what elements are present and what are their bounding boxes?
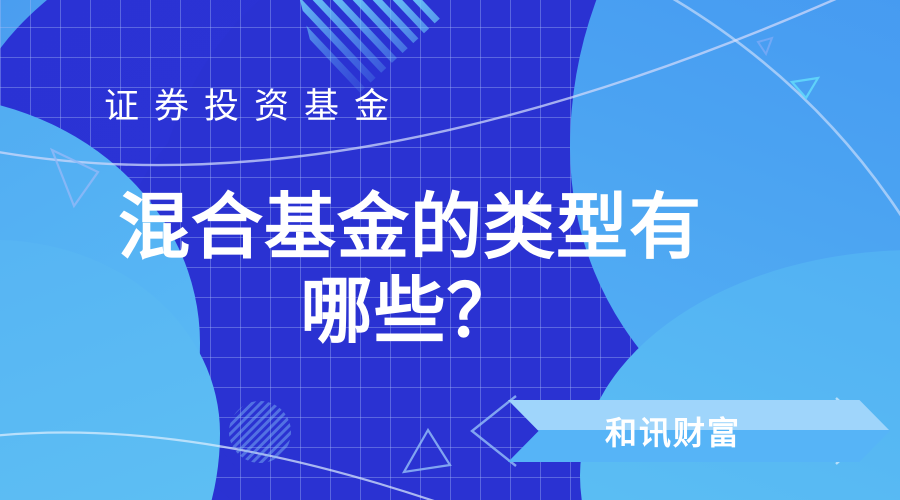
headline-line-1: 混合基金的类型有 xyxy=(118,188,702,268)
hatched-circle xyxy=(229,401,291,463)
brand-badge: 和讯财富 xyxy=(508,400,890,462)
brand-badge-label: 和讯财富 xyxy=(508,400,838,462)
promo-banner: 证券投资基金 混合基金的类型有 哪些？ 和讯财富 xyxy=(0,0,900,500)
headline-line-2: 哪些？ xyxy=(0,270,820,354)
banner-headline: 混合基金的类型有 哪些？ xyxy=(0,186,820,354)
triangle-outline-top-small xyxy=(758,38,772,54)
triangle-outline-bottom xyxy=(404,430,450,472)
banner-subtitle: 证券投资基金 xyxy=(104,78,404,129)
triangle-outline-top xyxy=(792,78,818,98)
